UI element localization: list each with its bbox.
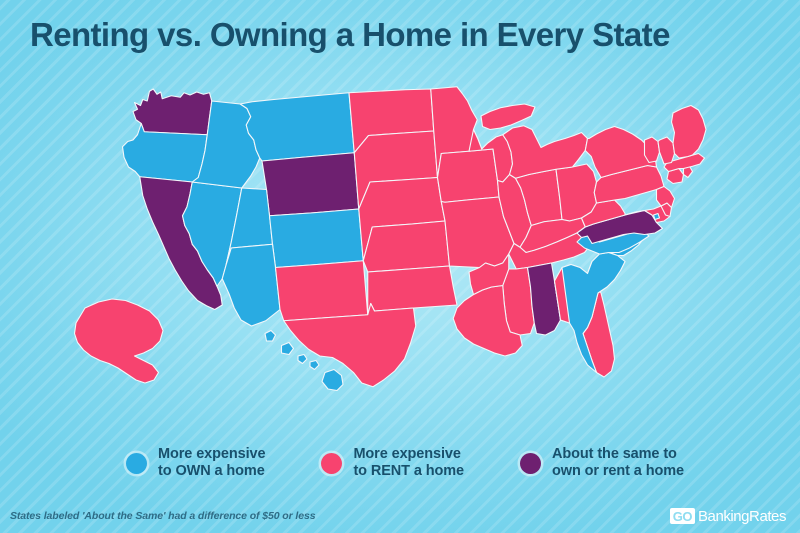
state-ks[interactable]: [363, 221, 449, 272]
legend-label-rent: More expensive to RENT a home: [353, 446, 464, 480]
state-wa[interactable]: [133, 89, 212, 135]
state-nh[interactable]: [658, 137, 675, 164]
state-hi[interactable]: [298, 355, 307, 364]
state-dc[interactable]: [654, 214, 660, 220]
state-mt[interactable]: [240, 93, 354, 161]
state-hi[interactable]: [265, 331, 276, 342]
legend-swatch-rent: [321, 453, 342, 474]
map-legend: More expensive to OWN a home More expens…: [0, 446, 800, 480]
state-nj[interactable]: [657, 187, 675, 208]
state-hi[interactable]: [282, 343, 294, 355]
footnote-text: States labeled 'About the Same' had a di…: [10, 510, 315, 522]
state-mi[interactable]: [481, 104, 535, 130]
state-vt[interactable]: [645, 137, 660, 163]
us-map-svg: [30, 62, 770, 437]
legend-label-own: More expensive to OWN a home: [158, 446, 265, 480]
state-hi[interactable]: [310, 361, 319, 370]
state-ak[interactable]: [75, 299, 164, 383]
state-ok[interactable]: [368, 266, 457, 315]
gobankingrates-logo[interactable]: GO BankingRates: [670, 508, 786, 524]
state-nm[interactable]: [276, 261, 368, 321]
page-title: Renting vs. Owning a Home in Every State: [30, 12, 775, 58]
state-co[interactable]: [270, 209, 364, 268]
legend-swatch-own: [126, 453, 147, 474]
infographic-canvas: Renting vs. Owning a Home in Every State…: [0, 0, 800, 533]
logo-go-mark: GO: [670, 508, 695, 524]
us-choropleth-map: [30, 62, 770, 437]
state-ia[interactable]: [438, 149, 500, 202]
legend-swatch-same: [520, 453, 541, 474]
state-hi[interactable]: [322, 370, 343, 391]
legend-item-same[interactable]: About the same to own or rent a home: [520, 446, 684, 480]
logo-wordmark: BankingRates: [696, 509, 786, 524]
legend-item-own[interactable]: More expensive to OWN a home: [126, 446, 265, 480]
legend-label-same: About the same to own or rent a home: [552, 446, 684, 480]
legend-item-rent[interactable]: More expensive to RENT a home: [321, 446, 464, 480]
state-wy[interactable]: [262, 153, 359, 216]
state-me[interactable]: [672, 106, 707, 159]
state-az[interactable]: [222, 244, 280, 326]
